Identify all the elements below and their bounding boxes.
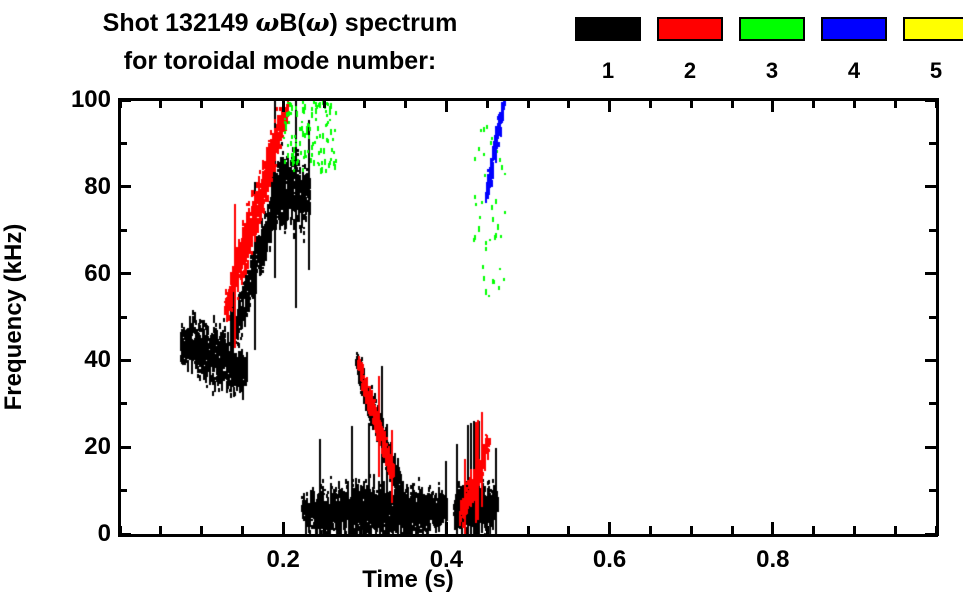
- legend-label-5: 5: [903, 58, 963, 84]
- y-tick-100: [120, 99, 131, 102]
- y-tick-20: [120, 446, 131, 449]
- y-tick-label-80: 80: [84, 173, 111, 201]
- y-tick-right-50: [929, 316, 936, 319]
- x-tick-0.2: [282, 522, 285, 534]
- x-tick-0.25: [323, 526, 326, 534]
- x-tick-top-0.5: [527, 100, 530, 108]
- legend-label-row: 12345: [575, 58, 963, 84]
- x-tick-0.1: [200, 526, 203, 534]
- x-tick-top-0.15: [241, 100, 244, 108]
- x-tick-top-0.4: [445, 100, 448, 112]
- x-tick-top-1: [935, 100, 938, 108]
- plot-area: 0204060801000.20.40.60.8: [120, 100, 936, 534]
- x-tick-0.9: [853, 526, 856, 534]
- x-tick-top-0.7: [690, 100, 693, 108]
- y-tick-80: [120, 185, 131, 188]
- legend-swatch-5: [903, 17, 963, 41]
- y-tick-right-60: [925, 272, 936, 275]
- x-tick-0.85: [812, 526, 815, 534]
- y-tick-right-30: [929, 402, 936, 405]
- x-tick-top-0.55: [567, 100, 570, 108]
- y-tick-right-70: [929, 229, 936, 232]
- y-tick-40: [120, 359, 131, 362]
- title-spectrum-text: ) spectrum: [330, 9, 458, 37]
- y-tick-label-100: 100: [71, 86, 111, 114]
- legend-label-3: 3: [739, 58, 805, 84]
- x-tick-top-0.05: [159, 100, 162, 108]
- x-tick-0.3: [363, 526, 366, 534]
- x-tick-0.5: [527, 526, 530, 534]
- x-tick-0.7: [690, 526, 693, 534]
- x-tick-top-0.2: [282, 100, 285, 112]
- x-tick-0.95: [894, 526, 897, 534]
- y-axis-title: Frequency (kHz): [0, 224, 28, 411]
- y-tick-label-20: 20: [84, 433, 111, 461]
- legend-label-1: 1: [575, 58, 641, 84]
- x-tick-top-0.95: [894, 100, 897, 108]
- title-line-1: Shot 132149 ωB(ω) spectrum: [0, 4, 560, 42]
- x-tick-label-0.2: 0.2: [267, 546, 300, 574]
- y-tick-label-40: 40: [84, 346, 111, 374]
- y-tick-right-80: [925, 185, 936, 188]
- x-tick-top-0.1: [200, 100, 203, 108]
- x-tick-top-0.8: [771, 100, 774, 112]
- legend-swatch-2: [657, 17, 723, 41]
- x-tick-1: [935, 526, 938, 534]
- x-tick-0.45: [486, 526, 489, 534]
- legend-label-4: 4: [821, 58, 887, 84]
- x-tick-top-0.25: [323, 100, 326, 108]
- legend-swatch-3: [739, 17, 805, 41]
- x-tick-top-0.75: [731, 100, 734, 108]
- y-tick-90: [120, 142, 127, 145]
- y-tick-right-10: [929, 489, 936, 492]
- figure-title: Shot 132149 ωB(ω) spectrum for toroidal …: [0, 4, 560, 80]
- legend: 12345: [575, 10, 960, 88]
- y-tick-50: [120, 316, 127, 319]
- y-tick-70: [120, 229, 127, 232]
- spectrogram-canvas: [120, 100, 936, 534]
- right-frame-line: [936, 98, 939, 536]
- x-tick-0.55: [567, 526, 570, 534]
- spectrogram-figure: Shot 132149 ωB(ω) spectrum for toroidal …: [0, 0, 963, 615]
- y-tick-30: [120, 402, 127, 405]
- legend-swatch-row: [575, 17, 963, 41]
- y-tick-right-40: [925, 359, 936, 362]
- x-tick-0.35: [404, 526, 407, 534]
- omega-symbol-1: ω: [256, 8, 280, 37]
- x-tick-top-0.45: [486, 100, 489, 108]
- y-tick-label-60: 60: [84, 260, 111, 288]
- title-b-open: B(: [279, 9, 305, 37]
- title-shot-text: Shot 132149: [103, 9, 256, 37]
- x-tick-top-0: [119, 100, 122, 108]
- x-tick-0.8: [771, 522, 774, 534]
- x-tick-top-0.9: [853, 100, 856, 108]
- x-tick-0.65: [649, 526, 652, 534]
- x-tick-label-0.8: 0.8: [756, 546, 789, 574]
- y-tick-10: [120, 489, 127, 492]
- x-tick-0: [119, 526, 122, 534]
- omega-symbol-2: ω: [306, 8, 330, 37]
- x-tick-top-0.65: [649, 100, 652, 108]
- legend-swatch-1: [575, 17, 641, 41]
- x-tick-0.05: [159, 526, 162, 534]
- x-axis-title: Time (s): [362, 566, 454, 594]
- y-tick-right-20: [925, 446, 936, 449]
- legend-swatch-4: [821, 17, 887, 41]
- x-tick-top-0.85: [812, 100, 815, 108]
- y-tick-label-0: 0: [98, 520, 111, 548]
- x-tick-top-0.35: [404, 100, 407, 108]
- title-line-2: for toroidal mode number:: [0, 42, 560, 80]
- x-tick-label-0.6: 0.6: [593, 546, 626, 574]
- x-tick-top-0.3: [363, 100, 366, 108]
- y-tick-right-90: [929, 142, 936, 145]
- x-axis-line: [118, 534, 938, 537]
- y-tick-0: [120, 533, 131, 536]
- x-tick-0.6: [608, 522, 611, 534]
- y-tick-60: [120, 272, 131, 275]
- x-tick-0.15: [241, 526, 244, 534]
- legend-label-2: 2: [657, 58, 723, 84]
- x-tick-0.4: [445, 522, 448, 534]
- x-tick-0.75: [731, 526, 734, 534]
- x-tick-top-0.6: [608, 100, 611, 112]
